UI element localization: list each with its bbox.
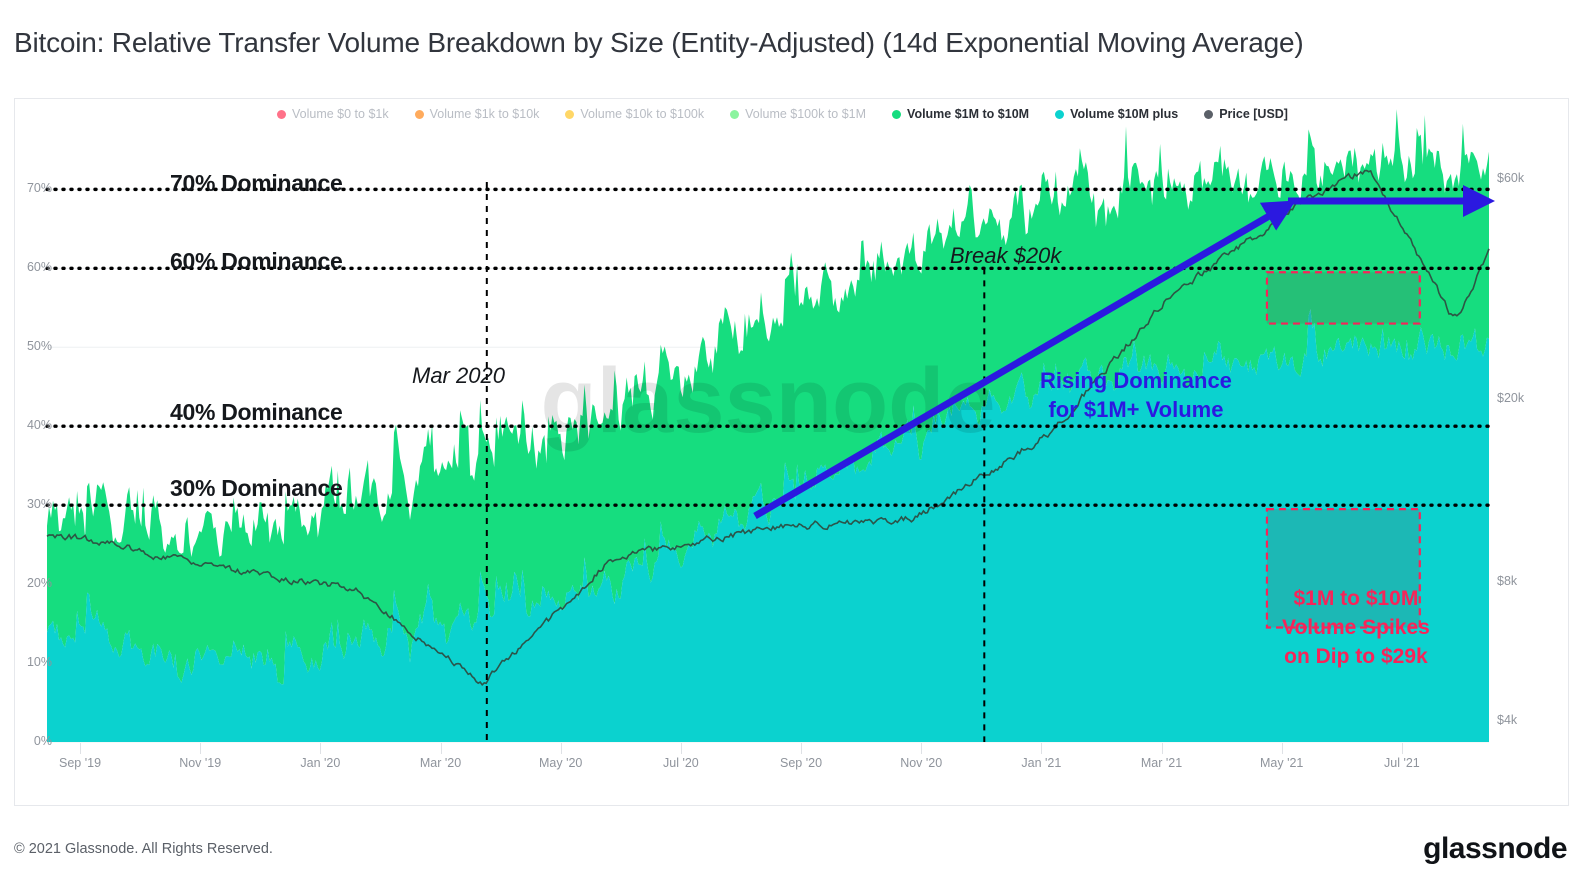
x-axis-tick-mark (561, 743, 562, 754)
y-axis-tick-right: $60k (1497, 171, 1524, 185)
y-axis-tick-left: 60% (18, 260, 52, 274)
x-axis-tick-mark (921, 743, 922, 754)
x-axis-tick-mark (1282, 743, 1283, 754)
x-axis-tick-mark (1402, 743, 1403, 754)
x-axis-tick-mark (681, 743, 682, 754)
x-axis-tick: Nov '20 (871, 756, 971, 770)
y-axis-tick-right: $8k (1497, 574, 1517, 588)
chart-page: Bitcoin: Relative Transfer Volume Breakd… (0, 0, 1583, 892)
x-axis-tick: Nov '19 (150, 756, 250, 770)
x-axis-tick: Jul '21 (1352, 756, 1452, 770)
x-axis-tick-mark (320, 743, 321, 754)
x-axis-tick: Jul '20 (631, 756, 731, 770)
price-dip-box (1267, 272, 1420, 323)
watermark: glassnode (540, 350, 995, 452)
x-axis-tick-mark (80, 743, 81, 754)
x-axis-tick: Sep '19 (30, 756, 130, 770)
x-axis-tick: Sep '20 (751, 756, 851, 770)
x-axis-tick-mark (801, 743, 802, 754)
y-axis-tick-left: 50% (18, 339, 52, 353)
y-axis-tick-left: 0% (18, 734, 52, 748)
volume-spike-box (1267, 509, 1420, 627)
y-axis-tick-right: $20k (1497, 391, 1524, 405)
y-axis-tick-right: $4k (1497, 713, 1517, 727)
x-axis-tick-mark (1041, 743, 1042, 754)
x-axis-tick: May '20 (511, 756, 611, 770)
x-axis-tick: Jan '20 (270, 756, 370, 770)
y-axis-tick-left: 70% (18, 181, 52, 195)
x-axis-tick: Jan '21 (991, 756, 1091, 770)
x-axis-tick-mark (1162, 743, 1163, 754)
x-axis-tick-mark (200, 743, 201, 754)
y-axis-tick-left: 10% (18, 655, 52, 669)
x-axis-tick-mark (441, 743, 442, 754)
y-axis-tick-left: 30% (18, 497, 52, 511)
y-axis-tick-left: 20% (18, 576, 52, 590)
x-axis-tick: Mar '20 (391, 756, 491, 770)
x-axis-tick: Mar '21 (1112, 756, 1212, 770)
x-axis-tick: May '21 (1232, 756, 1332, 770)
y-axis-tick-left: 40% (18, 418, 52, 432)
